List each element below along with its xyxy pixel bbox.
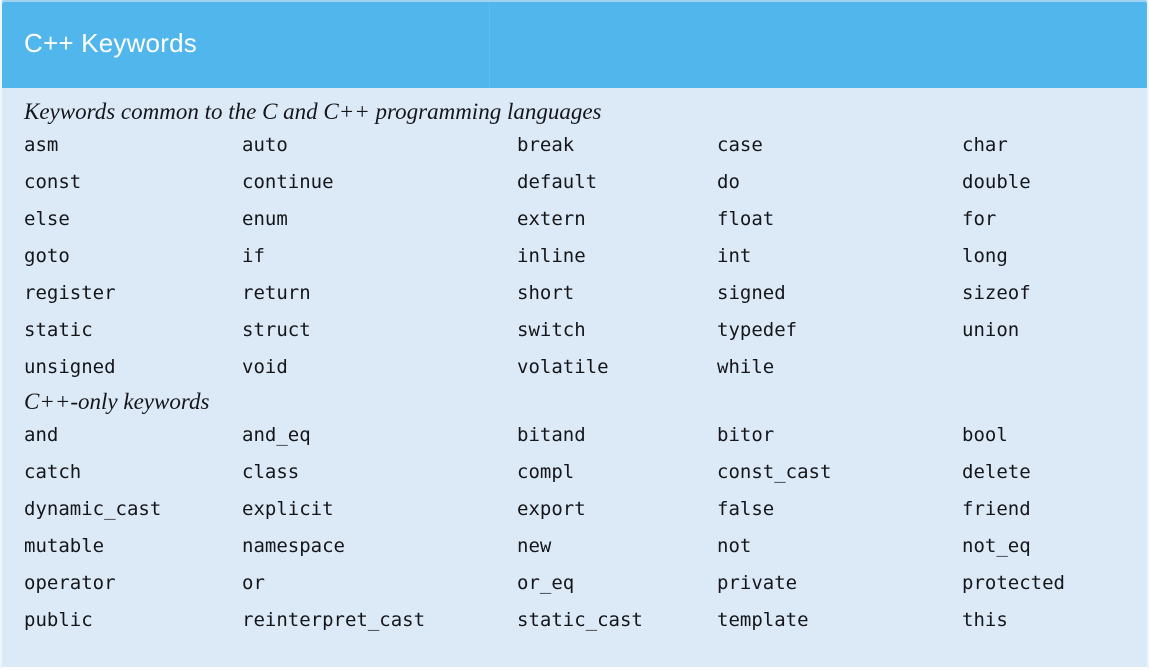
card-header: C++ Keywords bbox=[2, 2, 1147, 88]
keyword: operator bbox=[24, 565, 116, 602]
section-heading: Keywords common to the C and C++ program… bbox=[2, 96, 1147, 127]
keyword-row: staticstructswitchtypedefunion bbox=[2, 312, 1147, 349]
keyword: auto bbox=[242, 127, 288, 164]
keyword: dynamic_cast bbox=[24, 491, 161, 528]
keyword: inline bbox=[517, 238, 586, 275]
keyword: extern bbox=[517, 201, 586, 238]
keyword-row: registerreturnshortsignedsizeof bbox=[2, 275, 1147, 312]
keyword-row: elseenumexternfloatfor bbox=[2, 201, 1147, 238]
keyword: for bbox=[962, 201, 996, 238]
keyword: not bbox=[717, 528, 751, 565]
keyword: template bbox=[717, 602, 809, 639]
keyword: case bbox=[717, 127, 763, 164]
keywords-body: Keywords common to the C and C++ program… bbox=[2, 88, 1147, 669]
keyword: bitand bbox=[517, 417, 586, 454]
keyword-row: constcontinuedefaultdodouble bbox=[2, 164, 1147, 201]
keyword: short bbox=[517, 275, 574, 312]
keyword: continue bbox=[242, 164, 334, 201]
keyword: return bbox=[242, 275, 311, 312]
keyword: const_cast bbox=[717, 454, 831, 491]
keyword: and_eq bbox=[242, 417, 311, 454]
keyword: not_eq bbox=[962, 528, 1031, 565]
keyword: static_cast bbox=[517, 602, 643, 639]
keyword: catch bbox=[24, 454, 81, 491]
keyword: false bbox=[717, 491, 774, 528]
keyword: volatile bbox=[517, 349, 609, 386]
keyword: reinterpret_cast bbox=[242, 602, 425, 639]
keyword-section: C++-only keywordsandand_eqbitandbitorboo… bbox=[2, 386, 1147, 639]
keyword: bool bbox=[962, 417, 1008, 454]
keyword: const bbox=[24, 164, 81, 201]
keyword: class bbox=[242, 454, 299, 491]
keyword: static bbox=[24, 312, 93, 349]
keyword-section: Keywords common to the C and C++ program… bbox=[2, 96, 1147, 386]
keyword-row: catchclasscomplconst_castdelete bbox=[2, 454, 1147, 491]
keyword: union bbox=[962, 312, 1019, 349]
keyword: and bbox=[24, 417, 58, 454]
keyword-row: dynamic_castexplicitexportfalsefriend bbox=[2, 491, 1147, 528]
keyword: long bbox=[962, 238, 1008, 275]
keyword-row: asmautobreakcasechar bbox=[2, 127, 1147, 164]
keyword: while bbox=[717, 349, 774, 386]
keyword: mutable bbox=[24, 528, 104, 565]
keyword: friend bbox=[962, 491, 1031, 528]
keyword: private bbox=[717, 565, 797, 602]
keyword: public bbox=[24, 602, 93, 639]
header-divider bbox=[489, 2, 490, 88]
keyword: unsigned bbox=[24, 349, 116, 386]
keyword: namespace bbox=[242, 528, 345, 565]
keyword: protected bbox=[962, 565, 1065, 602]
keyword: export bbox=[517, 491, 586, 528]
keyword: struct bbox=[242, 312, 311, 349]
keyword: if bbox=[242, 238, 265, 275]
keyword: enum bbox=[242, 201, 288, 238]
keyword: break bbox=[517, 127, 574, 164]
keyword: goto bbox=[24, 238, 70, 275]
keyword: switch bbox=[517, 312, 586, 349]
keyword-row: publicreinterpret_caststatic_casttemplat… bbox=[2, 602, 1147, 639]
keyword-row: operatororor_eqprivateprotected bbox=[2, 565, 1147, 602]
keyword-row: andand_eqbitandbitorbool bbox=[2, 417, 1147, 454]
section-heading: C++-only keywords bbox=[2, 386, 1147, 417]
keyword: or_eq bbox=[517, 565, 574, 602]
keyword: float bbox=[717, 201, 774, 238]
keyword: asm bbox=[24, 127, 58, 164]
keyword: double bbox=[962, 164, 1031, 201]
keyword: else bbox=[24, 201, 70, 238]
keyword: typedef bbox=[717, 312, 797, 349]
keyword-row: mutablenamespacenewnotnot_eq bbox=[2, 528, 1147, 565]
keyword: int bbox=[717, 238, 751, 275]
keyword: or bbox=[242, 565, 265, 602]
keyword: void bbox=[242, 349, 288, 386]
keyword: new bbox=[517, 528, 551, 565]
keyword: sizeof bbox=[962, 275, 1031, 312]
page-title: C++ Keywords bbox=[24, 26, 197, 60]
keyword: do bbox=[717, 164, 740, 201]
keyword: register bbox=[24, 275, 116, 312]
keyword-row: unsignedvoidvolatilewhile bbox=[2, 349, 1147, 386]
keyword: this bbox=[962, 602, 1008, 639]
keyword-row: gotoifinlineintlong bbox=[2, 238, 1147, 275]
keyword: delete bbox=[962, 454, 1031, 491]
keyword: signed bbox=[717, 275, 786, 312]
keywords-card: C++ Keywords Keywords common to the C an… bbox=[0, 0, 1149, 670]
keyword: char bbox=[962, 127, 1008, 164]
keyword: compl bbox=[517, 454, 574, 491]
keyword: default bbox=[517, 164, 597, 201]
keyword: explicit bbox=[242, 491, 334, 528]
keyword: bitor bbox=[717, 417, 774, 454]
